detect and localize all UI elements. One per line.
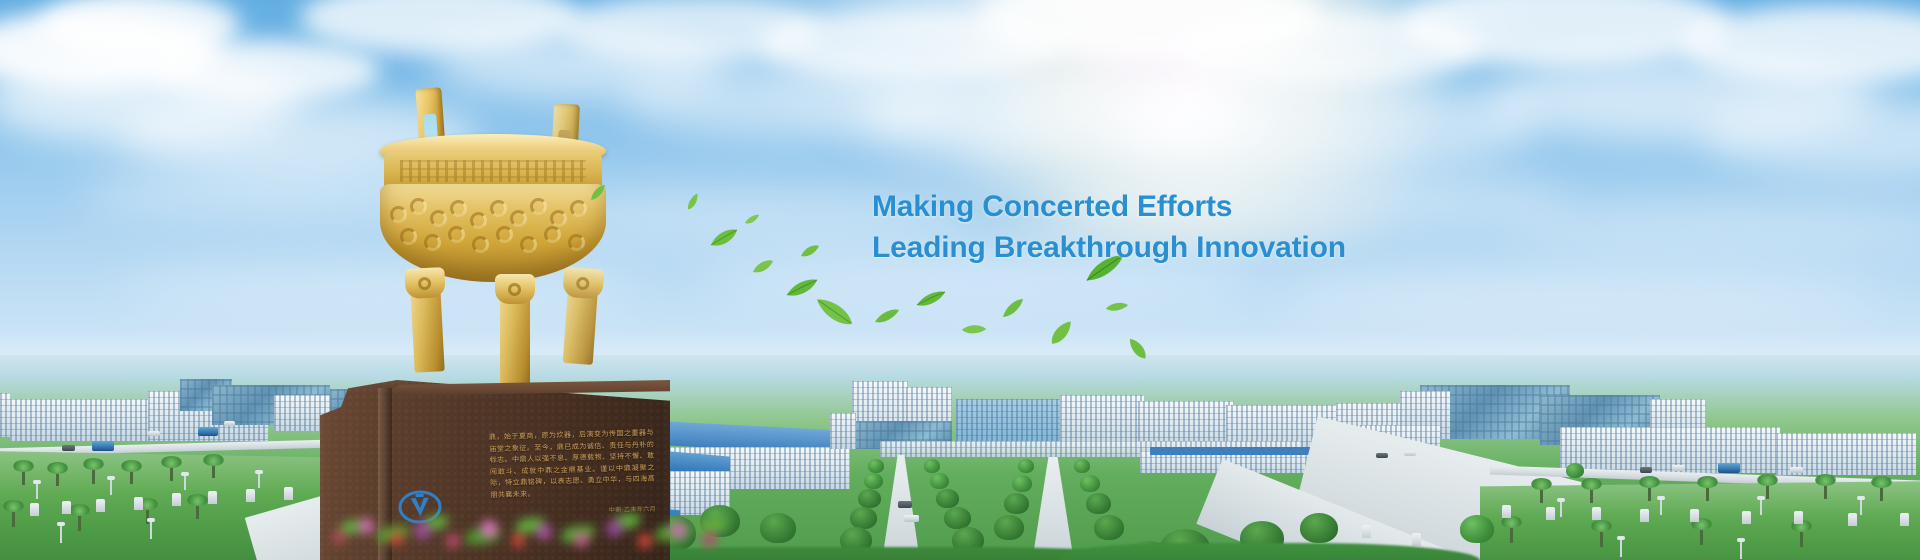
slogan-text: Making Concerted Efforts Leading Breakth… (872, 186, 1346, 268)
leaf-icon (744, 214, 760, 225)
industrial-park-campus (0, 355, 1920, 560)
slogan-line-1: Making Concerted Efforts (872, 186, 1346, 227)
slogan-line-2: Leading Breakthrough Innovation (872, 227, 1346, 268)
leaf-icon (752, 259, 774, 274)
hero-banner: 鼎，始于夏商，原为炊器，后演变为传国之重器与庙堂之象征。至今，鼎已成为诚信、责任… (0, 0, 1920, 560)
leaf-icon (916, 290, 946, 308)
leaf-icon (786, 278, 818, 298)
ding-leg-right (563, 267, 600, 365)
leaf-icon (710, 228, 738, 248)
foreground-flowers (330, 500, 730, 560)
leaf-icon (874, 308, 900, 324)
ding-leg-left (409, 267, 444, 372)
golden-ding-statue: 鼎，始于夏商，原为炊器，后演变为传国之重器与庙堂之象征。至今，鼎已成为诚信、责任… (380, 88, 680, 560)
leaf-icon (800, 244, 820, 258)
ding-scroll-ornament (384, 192, 602, 258)
